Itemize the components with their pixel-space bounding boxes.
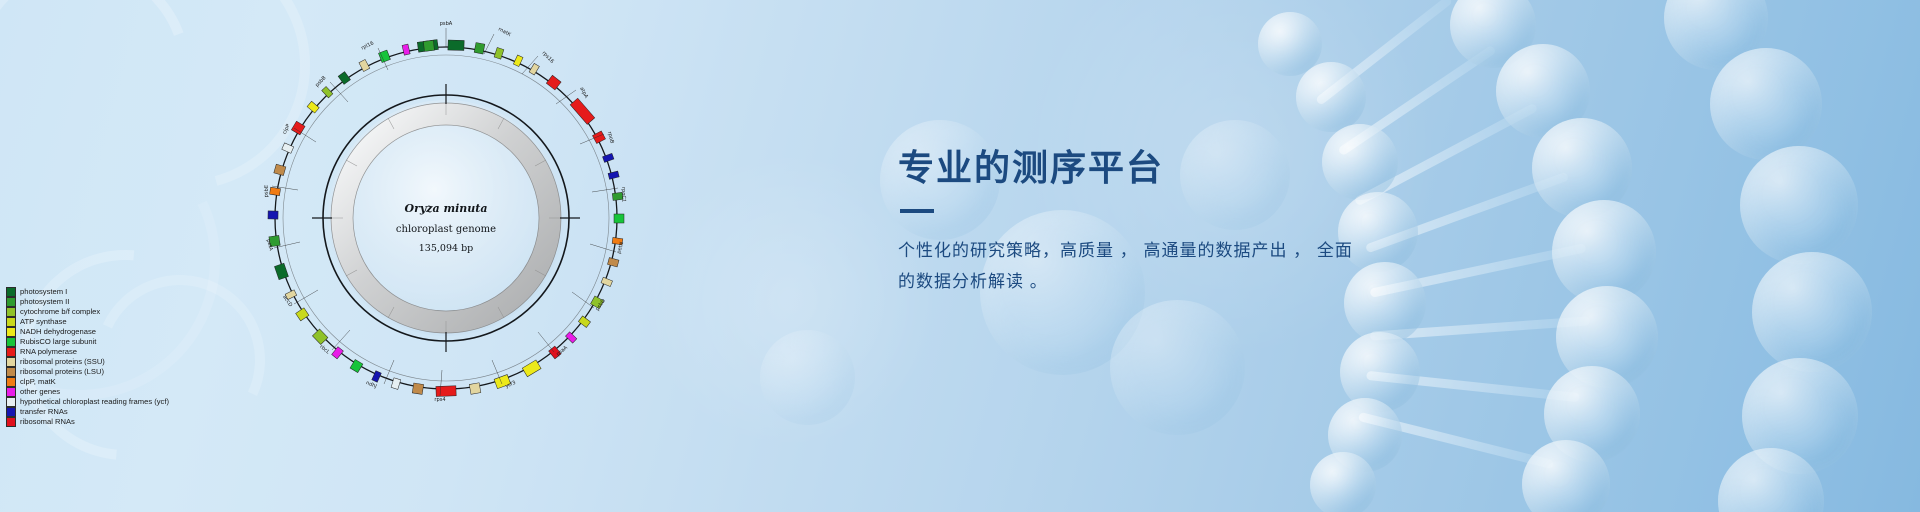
svg-text:rpoC1: rpoC1 — [620, 187, 627, 202]
banner-description-line1: 个性化的研究策略，高质量 ， 高通量的数据产出 ， 全面 — [898, 241, 1353, 260]
svg-text:psbA: psbA — [440, 21, 453, 27]
legend-label: other genes — [20, 387, 60, 396]
sequencing-platform-banner: psbA matK rps16 atpA rpoB rpoC1 petN psb… — [0, 0, 1920, 512]
legend-item-atp-synthase: ATP synthase — [6, 317, 246, 327]
banner-description-line2: 的数据分析解读 。 — [898, 272, 1048, 291]
genome-size-label: 135,094 bp — [419, 243, 473, 254]
legend-item-transfer-rnas: transfer RNAs — [6, 407, 246, 417]
svg-text:rps16: rps16 — [541, 50, 555, 65]
legend-label: photosystem II — [20, 297, 69, 306]
bokeh-bubble — [1110, 300, 1245, 435]
legend-label: NADH dehydrogenase — [20, 327, 96, 336]
svg-text:rps4: rps4 — [434, 397, 445, 403]
legend-label: transfer RNAs — [20, 407, 68, 416]
helix-sphere — [1328, 398, 1402, 472]
legend-item-ribosomal-rnas: ribosomal RNAs — [6, 417, 246, 427]
svg-text:rbcL: rbcL — [318, 344, 330, 356]
genome-organism-name: Oryza minuta — [405, 202, 488, 215]
genome-map-svg: psbA matK rps16 atpA rpoB rpoC1 petN psb… — [236, 8, 656, 428]
helix-rung — [1315, 0, 1453, 106]
legend-swatch-rna-polymerase — [6, 347, 16, 357]
legend-item-rubisco-large-subunit: RubisCO large subunit — [6, 337, 246, 347]
banner-title: 专业的测序平台 — [898, 145, 1458, 191]
legend-swatch-clpp-matk — [6, 377, 16, 387]
helix-sphere — [1522, 440, 1610, 512]
legend-item-photosystem-i: photosystem I — [6, 287, 246, 297]
legend-label: ATP synthase — [20, 317, 67, 326]
helix-sphere — [1544, 366, 1640, 462]
legend-item-ribosomal-proteins-lsu: ribosomal proteins (LSU) — [6, 367, 246, 377]
legend-item-nadh-dehydrogenase: NADH dehydrogenase — [6, 327, 246, 337]
legend-item-cytochrome-bf-complex: cytochrome b/f complex — [6, 307, 246, 317]
legend-swatch-ribosomal-proteins-ssu — [6, 357, 16, 367]
chloroplast-genome-map: psbA matK rps16 atpA rpoB rpoC1 petN psb… — [236, 8, 656, 428]
legend-swatch-rubisco-large-subunit — [6, 337, 16, 347]
helix-sphere — [1496, 44, 1590, 138]
legend-swatch-hypothetical-ycf — [6, 397, 16, 407]
banner-description: 个性化的研究策略，高质量 ， 高通量的数据产出 ， 全面 的数据分析解读 。 — [898, 235, 1458, 297]
svg-text:clpP: clpP — [282, 123, 292, 135]
glow-mid-1 — [640, 150, 940, 450]
legend-swatch-other-genes — [6, 387, 16, 397]
svg-text:atpA: atpA — [578, 86, 589, 100]
dna-swirl-left-1 — [0, 0, 226, 216]
bokeh-bubble — [760, 330, 855, 425]
legend-label: hypothetical chloroplast reading frames … — [20, 397, 169, 406]
legend-item-ribosomal-proteins-ssu: ribosomal proteins (SSU) — [6, 357, 246, 367]
legend-swatch-nadh-dehydrogenase — [6, 327, 16, 337]
legend-label: RubisCO large subunit — [20, 337, 96, 346]
legend-label: RNA polymerase — [20, 347, 77, 356]
helix-sphere — [1296, 62, 1366, 132]
legend-label: ribosomal RNAs — [20, 417, 75, 426]
helix-sphere — [1664, 0, 1768, 70]
legend-swatch-cytochrome-bf-complex — [6, 307, 16, 317]
legend-label: cytochrome b/f complex — [20, 307, 100, 316]
helix-sphere — [1450, 0, 1536, 68]
legend-swatch-transfer-rnas — [6, 407, 16, 417]
helix-sphere — [1710, 48, 1822, 160]
genome-inner-disc — [328, 100, 564, 336]
legend-item-clpp-matk: clpP, matK — [6, 377, 246, 387]
helix-rung — [1370, 316, 1590, 340]
legend-label: photosystem I — [20, 287, 67, 296]
helix-sphere — [1752, 252, 1872, 372]
legend-item-photosystem-ii: photosystem II — [6, 297, 246, 307]
genome-legend: photosystem I photosystem II cytochrome … — [6, 287, 246, 427]
helix-sphere — [1258, 12, 1322, 76]
legend-swatch-photosystem-ii — [6, 297, 16, 307]
legend-label: ribosomal proteins (LSU) — [20, 367, 104, 376]
helix-sphere — [1556, 286, 1658, 388]
genome-subtitle: chloroplast genome — [396, 224, 496, 235]
legend-label: ribosomal proteins (SSU) — [20, 357, 105, 366]
legend-label: clpP, matK — [20, 377, 56, 386]
legend-item-rna-polymerase: RNA polymerase — [6, 347, 246, 357]
helix-rung — [1337, 45, 1496, 156]
helix-sphere — [1740, 146, 1858, 264]
svg-text:psbE: psbE — [264, 185, 270, 198]
helix-sphere — [1742, 358, 1858, 474]
legend-swatch-photosystem-i — [6, 287, 16, 297]
svg-text:rpl16: rpl16 — [360, 40, 375, 51]
svg-text:rpoB: rpoB — [606, 131, 615, 145]
legend-item-hypothetical-ycf: hypothetical chloroplast reading frames … — [6, 397, 246, 407]
legend-swatch-ribosomal-rnas — [6, 417, 16, 427]
helix-sphere — [1310, 452, 1376, 512]
helix-sphere — [1718, 448, 1824, 512]
svg-text:psaA: psaA — [555, 345, 569, 358]
legend-item-other-genes: other genes — [6, 387, 246, 397]
helix-sphere — [1532, 118, 1632, 218]
banner-copy: 专业的测序平台 个性化的研究策略，高质量 ， 高通量的数据产出 ， 全面 的数据… — [898, 145, 1458, 297]
helix-rung — [1366, 371, 1580, 402]
legend-swatch-ribosomal-proteins-lsu — [6, 367, 16, 377]
svg-text:matK: matK — [497, 26, 512, 38]
helix-rung — [1358, 412, 1554, 469]
legend-swatch-atp-synthase — [6, 317, 16, 327]
helix-sphere — [1552, 200, 1656, 304]
helix-sphere — [1340, 332, 1420, 412]
title-divider — [900, 209, 934, 213]
